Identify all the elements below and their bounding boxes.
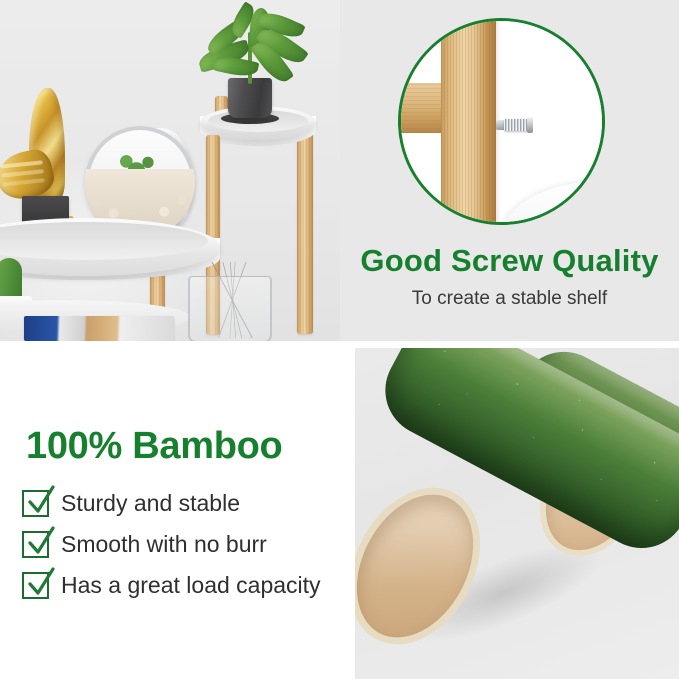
potted-plant: [196, 6, 308, 88]
screw-closeup-photo: [401, 21, 602, 222]
bamboo-leg: [297, 128, 313, 334]
screw-closeup-circle: [398, 18, 605, 225]
list-item: Sturdy and stable: [22, 483, 352, 523]
screw-icon: [496, 117, 538, 133]
feature-list: Sturdy and stable Smooth with no burr: [22, 483, 352, 606]
infographic-page: Good Screw Quality To create a stable sh…: [0, 0, 679, 679]
bottom-panel: 100% Bamboo Sturdy and stable: [0, 341, 679, 679]
checkbox-checked-icon: [22, 490, 49, 517]
stacked-books: [24, 316, 174, 341]
screw-detail-block: Good Screw Quality To create a stable sh…: [340, 0, 679, 341]
feature-label: Has a great load capacity: [61, 574, 321, 597]
glass-vase: [188, 276, 272, 341]
screw-quality-subtitle: To create a stable shelf: [340, 288, 679, 310]
closeup-white-shelf: [501, 181, 602, 222]
list-item: Smooth with no burr: [22, 524, 352, 564]
screw-quality-title: Good Screw Quality: [340, 243, 679, 279]
product-photo: [0, 0, 340, 341]
list-item: Has a great load capacity: [22, 565, 352, 605]
screw-head: [527, 117, 533, 133]
checkbox-checked-icon: [22, 572, 49, 599]
closeup-bamboo-post: [441, 21, 496, 222]
feature-label: Sturdy and stable: [61, 492, 240, 515]
feature-label: Smooth with no burr: [61, 533, 267, 556]
top-panel: Good Screw Quality To create a stable sh…: [0, 0, 679, 341]
features-block: 100% Bamboo Sturdy and stable: [0, 341, 355, 679]
bamboo-stalk-photo: [355, 348, 679, 679]
bamboo-heading: 100% Bamboo: [26, 425, 282, 468]
checkbox-checked-icon: [22, 531, 49, 558]
plant-leaf: [213, 54, 260, 80]
